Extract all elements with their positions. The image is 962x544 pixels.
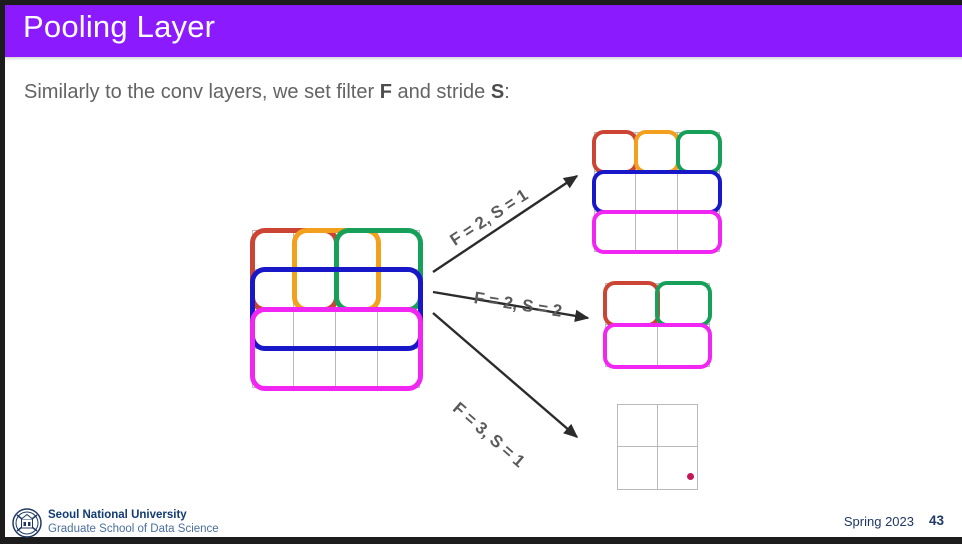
grid-cell bbox=[617, 404, 658, 447]
snu-emblem-icon bbox=[12, 508, 42, 538]
title-bar-shadow bbox=[5, 57, 962, 61]
subtitle-text: Similarly to the conv layers, we set fil… bbox=[24, 81, 510, 104]
magenta-window bbox=[250, 307, 423, 391]
subtitle-stride-symbol: S bbox=[491, 81, 504, 103]
subtitle-middle: and stride bbox=[392, 81, 491, 103]
blue-row bbox=[592, 170, 723, 215]
output-grid-3x3 bbox=[594, 132, 720, 252]
result-dot bbox=[687, 473, 694, 480]
green-cell bbox=[655, 281, 712, 328]
red-cell bbox=[603, 281, 660, 328]
subtitle-suffix: : bbox=[504, 81, 510, 103]
arrow-label-branch-1: F = 2, S = 1 bbox=[447, 185, 532, 250]
arrow-label-branch-3: F = 3, S = 1 bbox=[448, 398, 528, 471]
red-cell bbox=[592, 130, 639, 175]
arrow-label-branch-2: F = 2, S = 2 bbox=[472, 288, 563, 322]
slide-border-bottom bbox=[0, 537, 962, 544]
footer-university: Seoul National University bbox=[48, 509, 187, 521]
grid-cell bbox=[617, 447, 658, 490]
grid-cell bbox=[658, 447, 699, 490]
subtitle-filter-symbol: F bbox=[380, 81, 392, 103]
magenta-row bbox=[603, 323, 713, 370]
input-feature-map bbox=[252, 230, 420, 388]
green-cell bbox=[676, 130, 723, 175]
output-grid-plain-2x2 bbox=[617, 404, 698, 490]
magenta-row bbox=[592, 210, 723, 255]
output-grid-2x2 bbox=[605, 283, 710, 367]
page-title: Pooling Layer bbox=[23, 9, 215, 45]
footer-department: Graduate School of Data Science bbox=[48, 523, 219, 535]
orange-cell bbox=[634, 130, 681, 175]
footer-term: Spring 2023 bbox=[844, 514, 914, 529]
slide-border-left bbox=[0, 0, 5, 544]
grid-cell bbox=[658, 404, 699, 447]
arrow-branch-1 bbox=[433, 176, 577, 272]
slide-canvas: Pooling Layer Similarly to the conv laye… bbox=[0, 0, 962, 544]
footer-page-number: 43 bbox=[929, 513, 944, 528]
subtitle-prefix: Similarly to the conv layers, we set fil… bbox=[24, 81, 380, 103]
